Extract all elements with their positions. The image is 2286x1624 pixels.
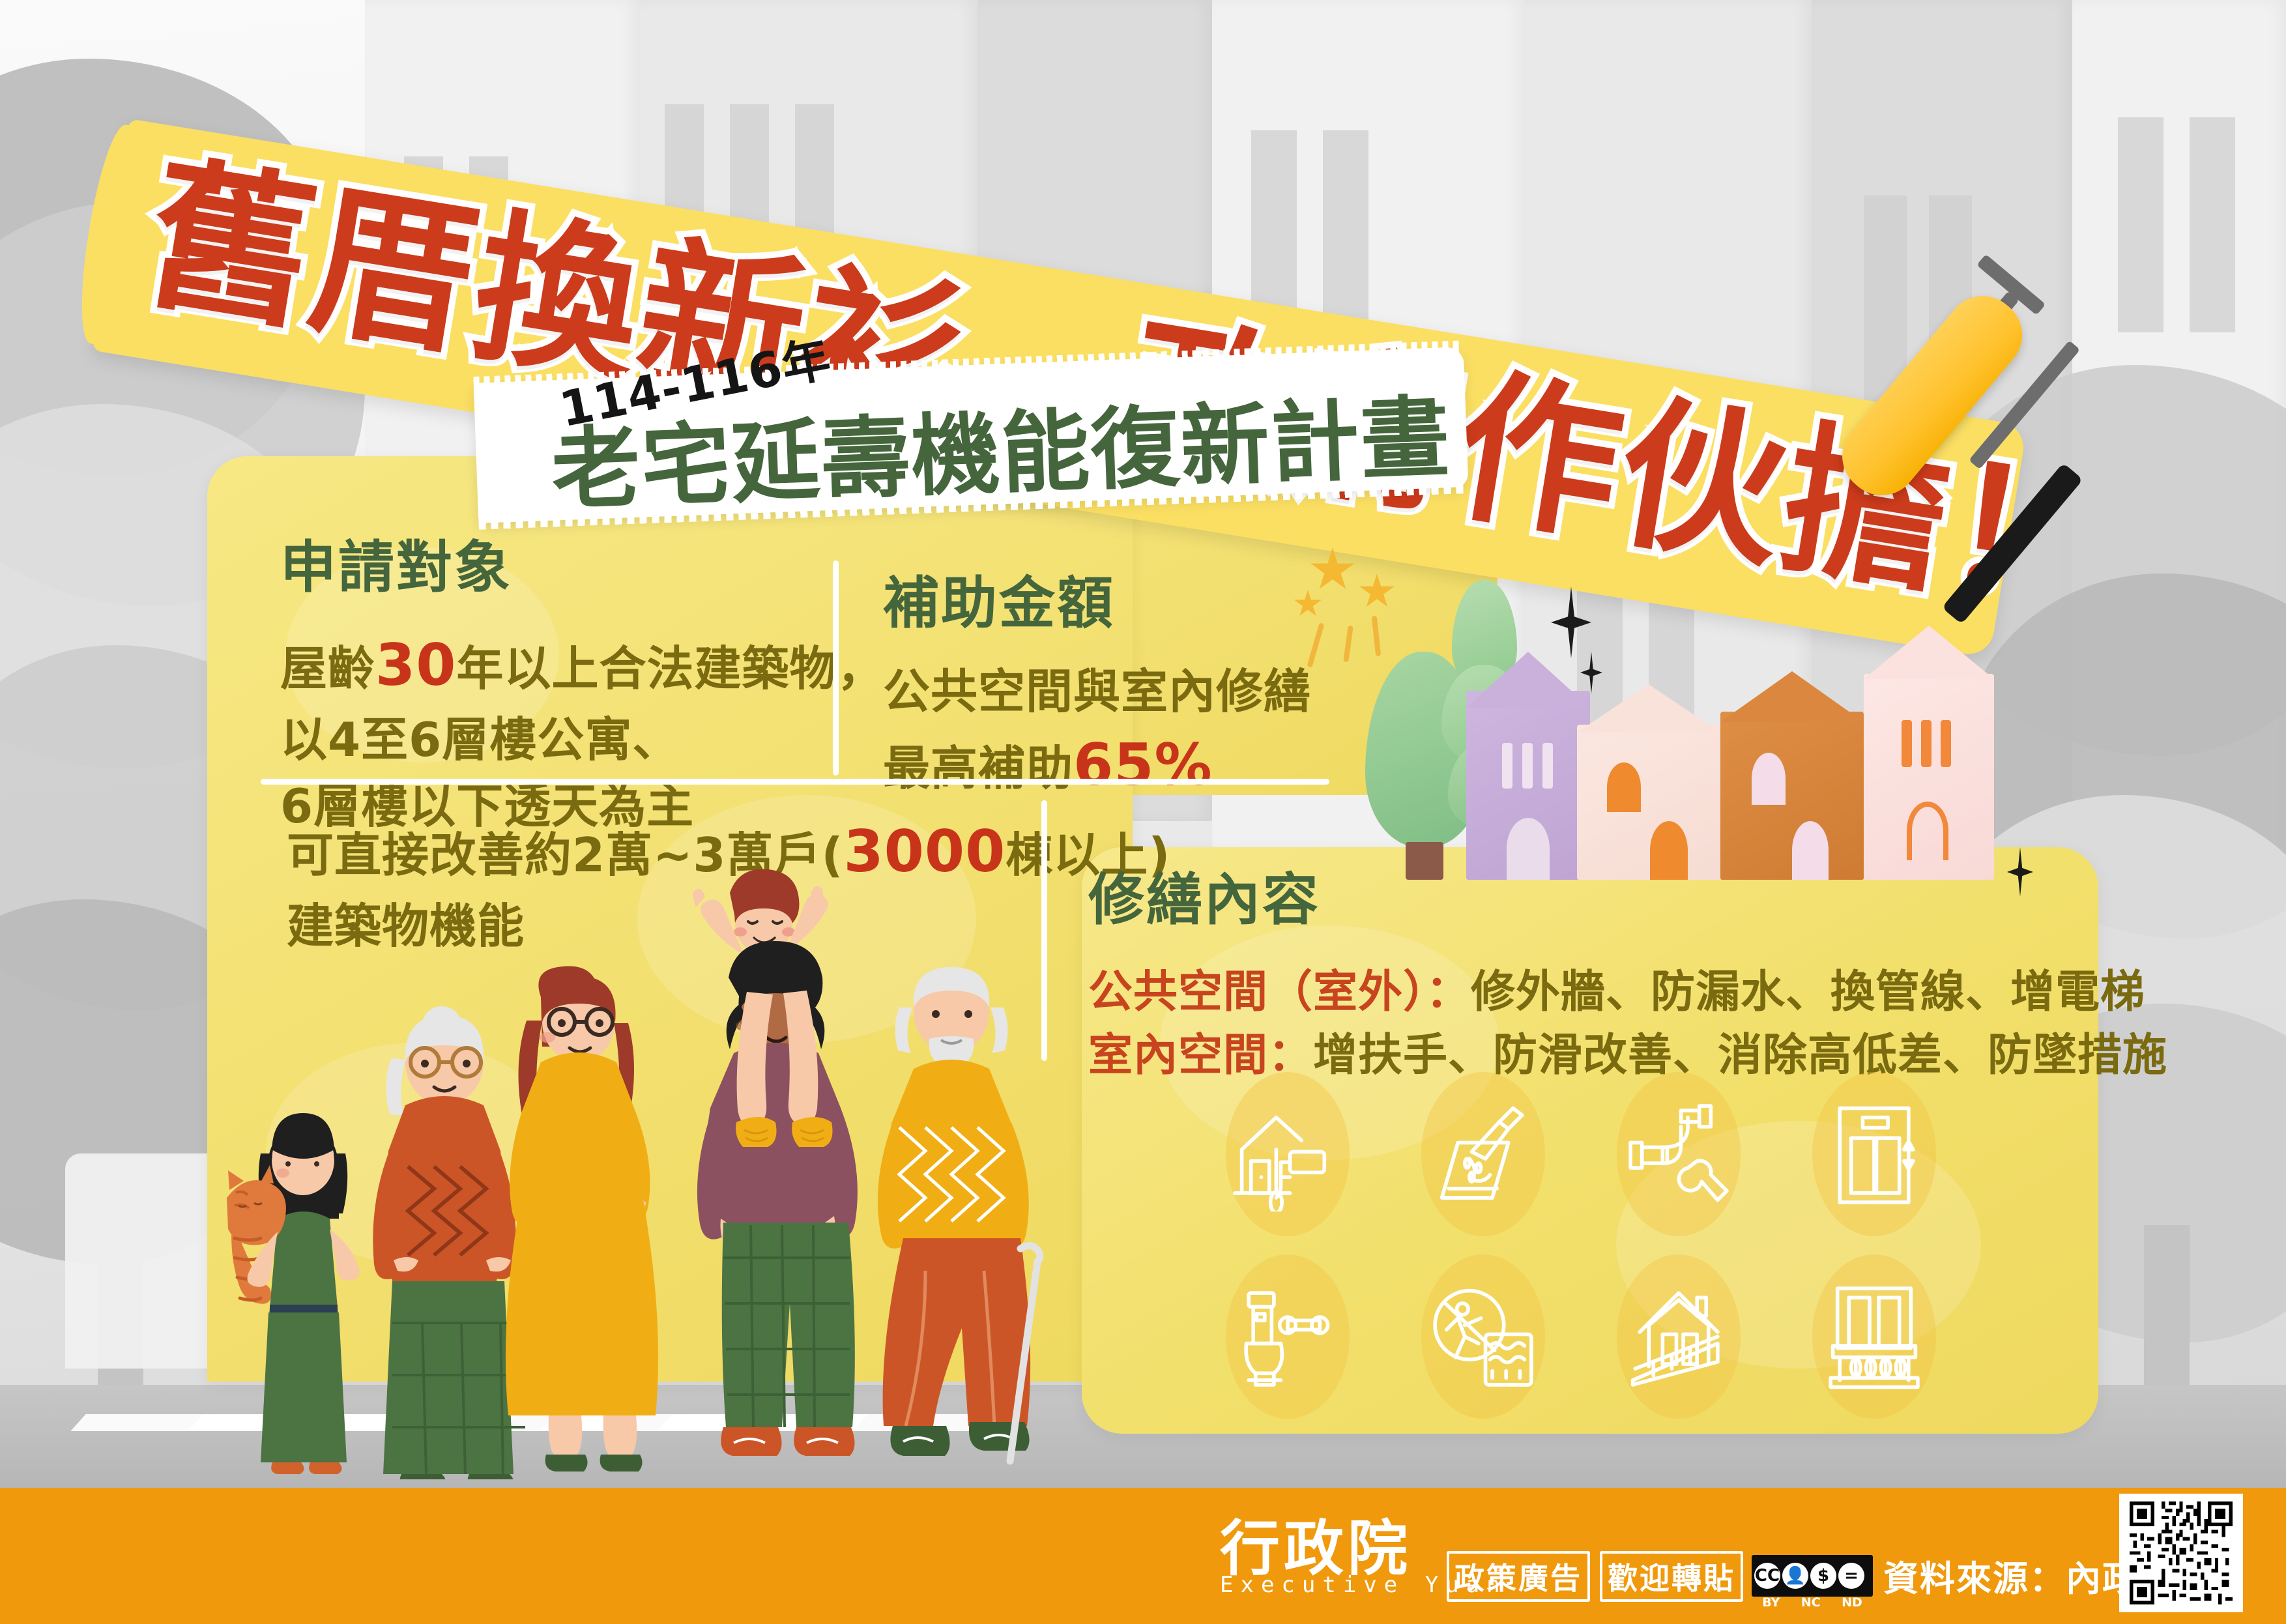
tag-policy-ad[interactable]: 政策廣告: [1447, 1551, 1590, 1602]
applicant-line-2: 以4至6層樓公寓、: [280, 706, 885, 773]
background-window: [730, 104, 769, 300]
applicant-line-1: 屋齡30年以上合法建築物，: [280, 625, 885, 706]
figure-father-and-child: [693, 869, 857, 1456]
subsidy-section: 補助金額 公共空間與室內修繕 最高補助65%: [883, 557, 1311, 806]
background-window: [2118, 117, 2163, 332]
toy-house-purple: [1466, 652, 1590, 880]
poster-root: 舊厝換新衫，政府作伙擔！ 老宅延壽機能復新計畫 114-116年 申請對象 屋齡…: [0, 0, 2286, 1624]
qr-code[interactable]: [2119, 1494, 2243, 1612]
background-window: [795, 104, 834, 300]
figure-girl: [227, 1113, 360, 1474]
subsidy-line-1: 公共空間與室內修繕: [883, 658, 1311, 725]
scope-label-outdoor: 公共空間（室外）：: [1088, 966, 1471, 1018]
cc-pill-nd: =: [1838, 1563, 1864, 1589]
background-window: [1323, 130, 1368, 365]
applicant-section: 申請對象 屋齡30年以上合法建築物， 以4至6層樓公寓、 6層樓以下透天為主: [280, 521, 885, 839]
cc-term-nc: NC: [1801, 1595, 1821, 1610]
toy-house-pink: [1864, 626, 1994, 880]
subsidy-line2-pre: 最高補助: [883, 741, 1073, 796]
applicant-heading: 申請對象: [280, 521, 885, 603]
icon-anti-slip-floor: [1401, 1254, 1565, 1419]
scope-detail-outdoor: 修外牆、防漏水、換管線、增電梯: [1471, 966, 2145, 1018]
subsidy-line-2: 最高補助65%: [883, 725, 1311, 806]
cc-license-terms: BY NC ND: [1752, 1595, 1873, 1610]
cc-pill-nc: $: [1810, 1563, 1836, 1589]
cc-term-nd: ND: [1842, 1595, 1862, 1610]
figure-grandmother: [373, 1006, 525, 1479]
qr-code-image: [2127, 1501, 2235, 1604]
subsidy-percent: 65%: [1073, 731, 1213, 798]
divider-vertical-top: [833, 560, 839, 776]
divider-horizontal: [261, 779, 1329, 785]
subsidy-heading: 補助金額: [883, 557, 1311, 639]
background-tree-trunk: [2144, 1225, 2190, 1408]
toy-house-cream: [1577, 684, 1720, 880]
cc-term-by: BY: [1762, 1595, 1780, 1610]
background-window: [665, 104, 704, 300]
icon-balcony-railing: [1792, 1254, 1956, 1419]
cc-pill-by: 👤: [1782, 1563, 1808, 1589]
figure-grandfather: [878, 967, 1040, 1461]
background-window: [404, 156, 443, 339]
scope-item-outdoor: 公共空間（室外）：修外牆、防漏水、換管線、增電梯: [1088, 961, 2167, 1024]
icon-house-ramp: [1597, 1254, 1761, 1419]
family-illustration: [215, 867, 1082, 1479]
icon-elevator: [1792, 1072, 1956, 1236]
background-window: [2190, 117, 2235, 332]
tag-repost-welcome[interactable]: 歡迎轉貼: [1600, 1551, 1743, 1602]
cc-license-badge: CC 👤 $ =: [1752, 1555, 1873, 1597]
applicant-line1-post: 年以上合法建築物，: [456, 641, 884, 696]
icon-waterproofing-trowel: [1401, 1072, 1565, 1236]
background-window: [1251, 130, 1297, 365]
icon-house-paint-roller: [1206, 1072, 1370, 1236]
scope-section: 修繕內容 公共空間（室外）：修外牆、防漏水、換管線、增電梯 室內空間：增扶手、防…: [1088, 854, 2167, 1087]
applicant-age-number: 30: [375, 631, 456, 699]
cc-pill-cc: CC: [1754, 1563, 1780, 1589]
icon-pipe-wrench: [1597, 1072, 1761, 1236]
toy-house-orange: [1720, 671, 1864, 880]
background-window: [469, 156, 508, 339]
applicant-line1-pre: 屋齡: [280, 641, 375, 696]
figure-mother: [506, 966, 658, 1472]
icon-toilet-grab-bar: [1206, 1254, 1370, 1419]
